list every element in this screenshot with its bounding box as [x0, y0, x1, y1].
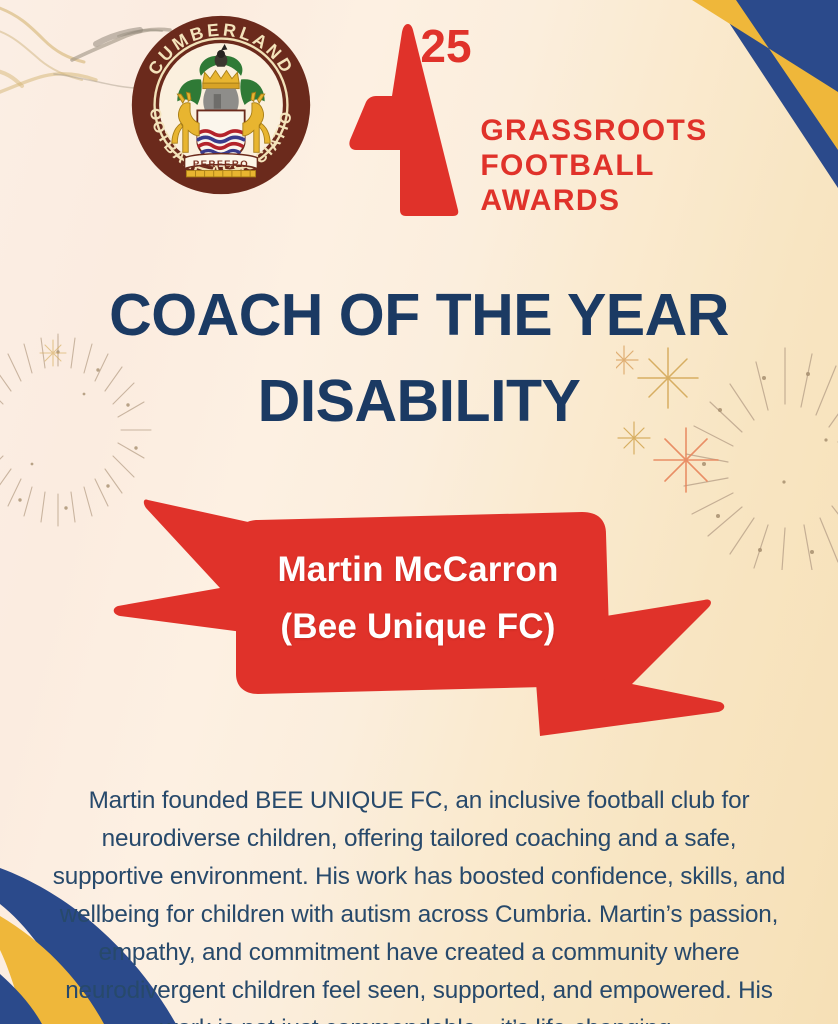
header-logo-row: CUMBERLAND FOOTBALL ASSOCIATION — [0, 14, 838, 224]
award-category-title: COACH OF THE YEAR DISABILITY — [0, 272, 838, 444]
winner-club: (Bee Unique FC) — [108, 599, 728, 656]
grassroots-football-awards-logo: 25 GRASSROOTS FOOTBALL AWARDS — [346, 18, 707, 218]
awards-title-line-2: FOOTBALL — [480, 149, 707, 184]
awards-a-mark-icon: 25 — [346, 18, 478, 218]
award-citation-text: Martin founded BEE UNIQUE FC, an inclusi… — [48, 782, 790, 1024]
awards-title-line-3: AWARDS — [480, 184, 707, 219]
cumberland-fa-crest-icon: CUMBERLAND FOOTBALL ASSOCIATION — [130, 14, 312, 196]
awards-title-line-1: GRASSROOTS — [480, 114, 707, 149]
awards-year-badge: 25 — [421, 20, 472, 72]
winner-ribbon: Martin McCarron (Bee Unique FC) — [0, 488, 838, 746]
awards-title-text: GRASSROOTS FOOTBALL AWARDS — [480, 114, 707, 218]
winner-name: Martin McCarron — [108, 542, 728, 599]
crest-motto-text: PERFERO — [193, 159, 249, 170]
winner-details: Martin McCarron (Bee Unique FC) — [108, 542, 728, 655]
award-poster: CUMBERLAND FOOTBALL ASSOCIATION — [0, 0, 838, 1024]
award-title-line-2: DISABILITY — [0, 358, 838, 444]
award-title-line-1: COACH OF THE YEAR — [109, 282, 729, 348]
